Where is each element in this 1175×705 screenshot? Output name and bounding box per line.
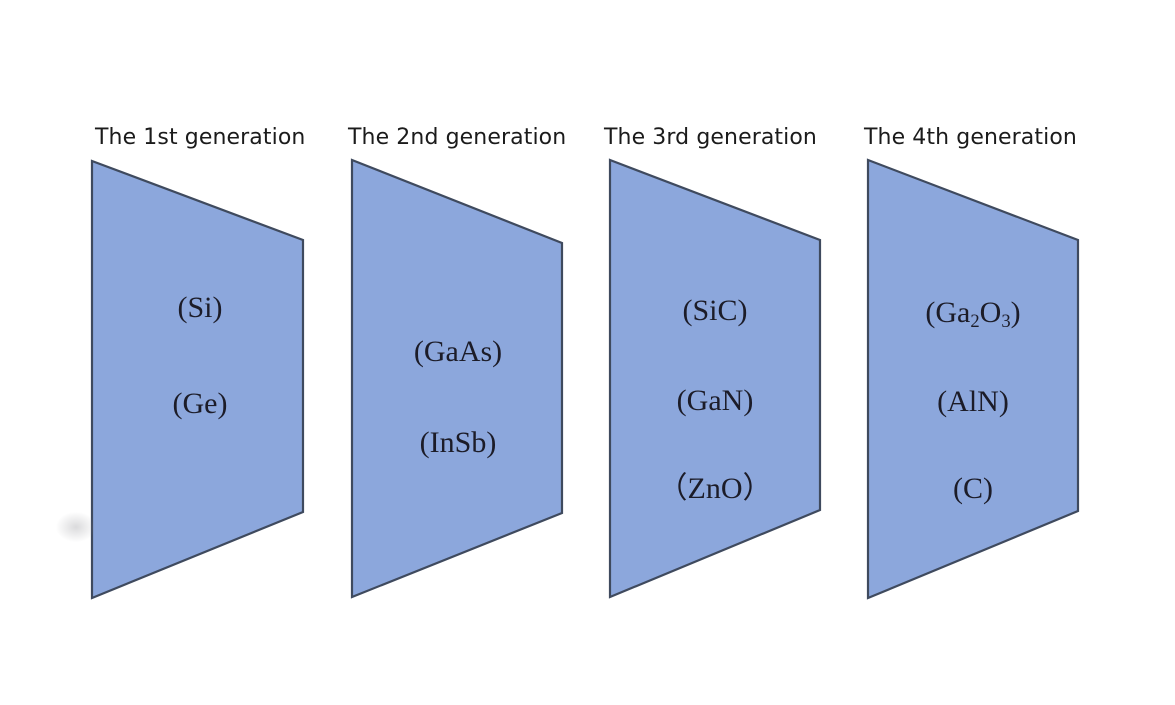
generation-header-2: The 2nd generation [348, 127, 566, 149]
generation-shapes-svg [0, 0, 1175, 705]
generation-header-1: The 1st generation [95, 127, 305, 149]
generation-shape-1[interactable] [92, 161, 303, 598]
material-label-gan: (GaN) [677, 386, 754, 416]
material-label-gaas: (GaAs) [414, 337, 502, 367]
material-label-aln: (AlN) [937, 387, 1009, 417]
material-label-insb: (InSb) [420, 428, 497, 458]
material-label-si: (Si) [178, 293, 223, 323]
material-label-sic: (SiC) [682, 296, 747, 326]
generation-header-4: The 4th generation [864, 127, 1077, 149]
ga2o3-tail: ) [1011, 296, 1021, 329]
ga2o3-subscript-2: 2 [970, 311, 979, 332]
generation-shape-2[interactable] [352, 160, 562, 597]
material-label-ge: (Ge) [173, 389, 228, 419]
generation-header-3: The 3rd generation [604, 127, 817, 149]
ga2o3-mid: O [980, 296, 1002, 329]
ga2o3-base: (Ga [925, 296, 970, 329]
diagram-canvas: The 1st generation The 2nd generation Th… [0, 0, 1175, 705]
material-label-zno: （ZnO） [658, 474, 773, 504]
material-label-ga2o3: (Ga2O3) [925, 298, 1020, 328]
ga2o3-subscript-3: 3 [1001, 311, 1010, 332]
material-label-c: (C) [953, 474, 993, 504]
generation-shape-4[interactable] [868, 160, 1078, 598]
generation-shape-3[interactable] [610, 160, 820, 597]
